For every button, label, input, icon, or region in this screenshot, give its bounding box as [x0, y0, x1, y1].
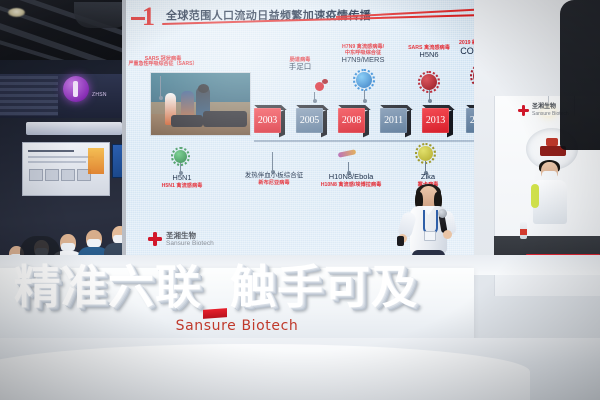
booth-wordmark [26, 122, 122, 135]
callout-h10n8-ebola-2014: H10N8/Ebola H10N8 禽流感/埃博拉病毒 [318, 173, 384, 188]
stage-floor-curve [0, 344, 530, 400]
slide-number: 1 [142, 4, 155, 30]
photo-motorbike [171, 115, 203, 127]
sansure-logo-icon [148, 232, 162, 246]
callout-en: 发热伴血小板综合征 [236, 172, 312, 180]
photo-motorbike [203, 111, 247, 127]
booth-side-poster [88, 148, 104, 174]
banner-english: Sansure Biotech [0, 318, 474, 334]
timeline-year-block: 2003 [254, 108, 281, 133]
presenter-hand-right [443, 230, 452, 239]
banner-char: 触 [230, 264, 275, 310]
callout-cn: H10N8 禽流感/埃博拉病毒 [318, 182, 384, 188]
callout-en: H5N1 [154, 174, 210, 183]
photo-scene: ZHSN [0, 0, 600, 400]
slide-brand-text: 圣湘生物 Sansure Biotech [166, 231, 214, 249]
face-mask [87, 239, 101, 247]
callout-stem [272, 152, 273, 172]
slide-brand-cn: 圣湘生物 [166, 231, 214, 240]
year-label: 2011 [380, 108, 407, 133]
poster-line [28, 156, 94, 158]
poster-thumb [61, 169, 75, 181]
poster-line [28, 161, 86, 163]
booth-staff [530, 162, 570, 240]
staff-vest [531, 184, 539, 208]
banner-char: 及 [371, 264, 416, 310]
reagent-bottle [520, 222, 527, 239]
callout-en: Zika [402, 173, 454, 182]
callout-cn: H5N1 禽流感病毒 [154, 183, 210, 189]
face-mask [61, 243, 75, 251]
callout-stem [180, 163, 181, 173]
callout-en: H10N8/Ebola [318, 173, 384, 182]
callout-sfts-2011: 发热伴血小板综合征 新布尼亚病毒 [236, 172, 312, 186]
presenter-badge [424, 231, 436, 241]
booth-logo-sub: ZHSN [92, 92, 107, 98]
callout-stem [314, 92, 315, 101]
banner-char: 联 [155, 264, 200, 310]
callout-stem [364, 90, 365, 101]
virus-green-icon [174, 150, 187, 163]
year-label: 2013 [422, 108, 449, 133]
face-mask [542, 171, 557, 180]
virus-red-icon [421, 74, 437, 90]
callout-en: 手足口 [276, 63, 324, 72]
slide-photo [150, 72, 251, 136]
timeline-year-block: 2013 [422, 108, 449, 133]
ebola-icon [338, 148, 358, 160]
callout-h7n9-2013: H7N9 禽流感病毒/ 中东呼吸综合征 H7N9/MERS [326, 44, 400, 65]
callout-stem [160, 76, 161, 98]
poster-line [28, 150, 74, 152]
callout-cn: 新布尼亚病毒 [236, 180, 312, 186]
booth-right: 圣湘生物 Sansure Biotech Sansure B [474, 0, 600, 348]
poster-thumb [45, 169, 59, 181]
callout-cn-sub: 严重急性呼吸综合征（SARS） [128, 62, 198, 68]
foreground-visitor [560, 0, 600, 150]
slide-brand-en: Sansure Biotech [166, 240, 214, 247]
sansure-logo-icon [518, 105, 529, 116]
virus-blue-icon [356, 72, 372, 88]
zika-icon [418, 146, 433, 161]
callout-h5n1-2005: H5N1 H5N1 禽流感病毒 [154, 174, 210, 189]
callout-en: H7N9/MERS [326, 56, 400, 65]
banner-char: 精 [14, 264, 59, 310]
callout-sars-2003: SARS 冠状病毒 严重急性呼吸综合征（SARS） [128, 56, 198, 68]
callout-en: H5N6 [398, 51, 460, 60]
booth-slats [0, 76, 58, 116]
timeline-year-block: 2011 [380, 108, 407, 133]
slide-brand-logo: 圣湘生物 Sansure Biotech [148, 231, 214, 249]
timeline-baseline [254, 140, 507, 142]
microphone-head-icon [438, 209, 447, 218]
callout-stem [429, 90, 430, 101]
timeline: 2003 2005 2008 2011 2013 2014 2015 2016 … [252, 100, 507, 146]
year-label: 2005 [296, 108, 323, 133]
banner-char: 准 [61, 264, 106, 310]
timeline-year-block: 2008 [338, 108, 365, 133]
banner-chinese: 精 准 六 联 触 手 可 及 [14, 258, 474, 316]
banner-char: 六 [108, 264, 153, 310]
callout-entero-2008: 肠道病毒 手足口 [276, 57, 324, 72]
poster-thumb [29, 169, 43, 181]
timeline-year-block: 2005 [296, 108, 323, 133]
banner-char: 可 [324, 264, 369, 310]
booth-logo-icon [63, 76, 89, 102]
banner-char: 手 [277, 264, 322, 310]
ceiling-light [8, 8, 25, 17]
callout-h5n6-2015: SARS 禽流感病毒 H5N6 [398, 45, 460, 60]
presenter-clicker [397, 236, 404, 246]
year-label: 2008 [338, 108, 365, 133]
year-label: 2003 [254, 108, 281, 133]
photo-helmet [198, 84, 209, 93]
